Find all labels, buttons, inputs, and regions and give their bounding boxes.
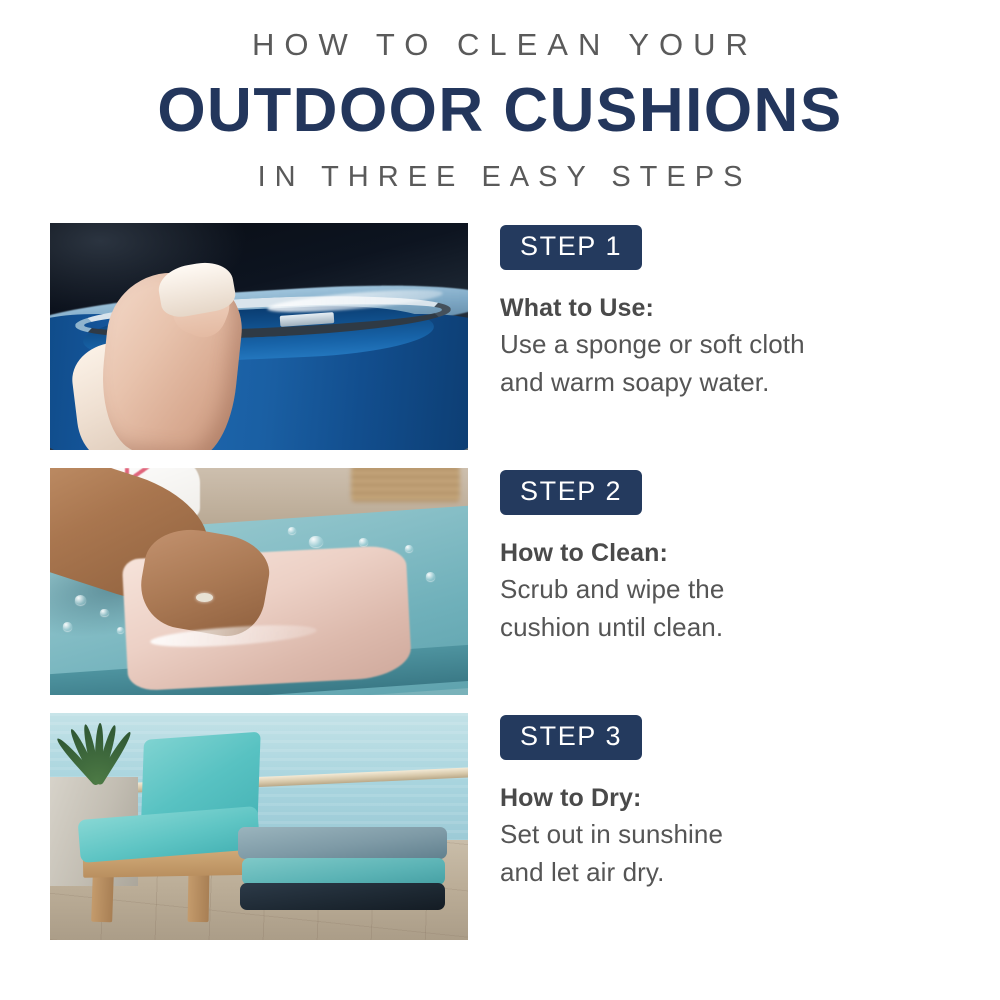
- step-2-text: STEP 2 How to Clean: Scrub and wipe the …: [468, 468, 950, 645]
- step-3-body-line-1: Set out in sunshine: [500, 817, 950, 851]
- step-row: STEP 3 How to Dry: Set out in sunshine a…: [50, 713, 950, 940]
- header-subline: IN THREE EASY STEPS: [9, 161, 1000, 194]
- step-1-body-line-2: and warm soapy water.: [500, 365, 950, 399]
- header-eyebrow: HOW TO CLEAN YOUR: [10, 28, 1000, 62]
- ring: [196, 593, 213, 602]
- step-2-photo: [50, 468, 468, 695]
- step-2-lede: How to Clean:: [500, 539, 950, 568]
- step-3-text: STEP 3 How to Dry: Set out in sunshine a…: [468, 713, 950, 890]
- step-3-body-line-2: and let air dry.: [500, 855, 950, 889]
- infographic-page: HOW TO CLEAN YOUR OUTDOOR CUSHIONS IN TH…: [0, 0, 1000, 1000]
- step-1-body-line-1: Use a sponge or soft cloth: [500, 327, 950, 361]
- step-3-badge: STEP 3: [500, 715, 642, 760]
- step-2-body-line-2: cushion until clean.: [500, 610, 950, 644]
- lounge-leg-back: [188, 872, 210, 922]
- agave-plant: [50, 718, 142, 784]
- stacked-cushion-teal: [242, 858, 445, 886]
- steps-list: STEP 1 What to Use: Use a sponge or soft…: [50, 223, 950, 958]
- step-1-badge: STEP 1: [500, 225, 642, 270]
- header-headline: OUTDOOR CUSHIONS: [0, 74, 1000, 147]
- step-row: STEP 2 How to Clean: Scrub and wipe the …: [50, 468, 950, 695]
- step-row: STEP 1 What to Use: Use a sponge or soft…: [50, 223, 950, 450]
- stacked-cushion-navy: [240, 883, 445, 911]
- stacked-cushions: [238, 827, 447, 913]
- header: HOW TO CLEAN YOUR OUTDOOR CUSHIONS IN TH…: [0, 0, 1000, 194]
- lounge-leg-front: [91, 872, 114, 923]
- step-2-badge: STEP 2: [500, 470, 642, 515]
- step-1-text: STEP 1 What to Use: Use a sponge or soft…: [468, 223, 950, 400]
- step-3-lede: How to Dry:: [500, 784, 950, 813]
- step-1-lede: What to Use:: [500, 294, 950, 323]
- step-2-body-line-1: Scrub and wipe the: [500, 572, 950, 606]
- step-3-photo: [50, 713, 468, 940]
- step-1-photo: [50, 223, 468, 450]
- stacked-cushion-gray: [238, 827, 447, 860]
